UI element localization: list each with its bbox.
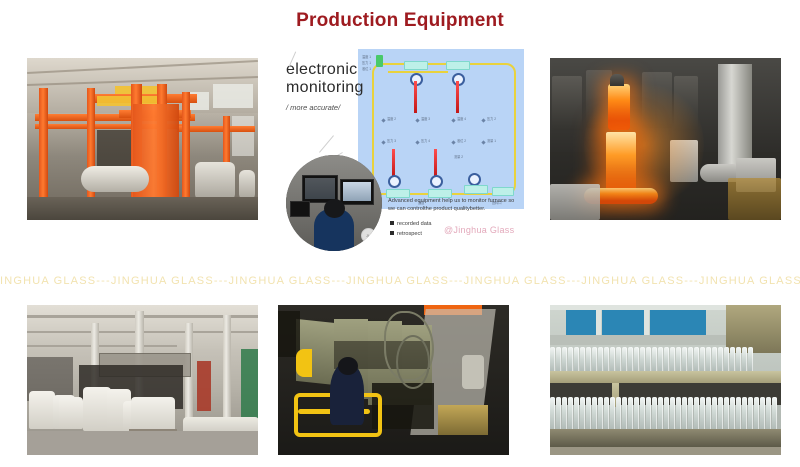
bottle-row-upper bbox=[550, 347, 758, 373]
gallery-image-raw-material-warehouse[interactable] bbox=[27, 305, 258, 455]
steel-column bbox=[182, 92, 190, 204]
bottle bbox=[742, 397, 747, 431]
factory-window bbox=[602, 309, 644, 337]
bottle bbox=[694, 347, 699, 373]
scada-tag bbox=[446, 61, 470, 70]
hall-window bbox=[232, 116, 254, 156]
roof-beam bbox=[27, 345, 177, 347]
monitoring-heading-line2: monitoring bbox=[286, 79, 364, 97]
factory-window bbox=[650, 309, 706, 337]
bottle bbox=[682, 347, 687, 373]
bottle bbox=[562, 347, 567, 373]
bottle bbox=[712, 347, 717, 373]
material-bag-stack bbox=[131, 397, 175, 431]
bottle bbox=[586, 347, 591, 373]
feed-pipe bbox=[81, 166, 149, 192]
bottle bbox=[568, 347, 573, 373]
bottle bbox=[580, 397, 585, 431]
mold-block bbox=[552, 76, 582, 130]
bottle bbox=[610, 397, 615, 431]
bottle bbox=[724, 397, 729, 431]
bottle bbox=[754, 397, 759, 431]
red-equipment bbox=[197, 361, 211, 411]
scada-label: 流量 2 bbox=[454, 155, 463, 159]
bottle bbox=[658, 347, 663, 373]
legend-bullet-icon bbox=[390, 231, 394, 235]
machine-base bbox=[438, 405, 488, 435]
furnace-body bbox=[133, 104, 179, 212]
scada-label: 温度 4 bbox=[457, 117, 466, 121]
furnace-hall-photo bbox=[27, 58, 258, 220]
bottle bbox=[718, 347, 723, 373]
material-bag bbox=[59, 397, 83, 429]
bottle bbox=[748, 347, 753, 373]
bottle bbox=[688, 397, 693, 431]
monitoring-subheading: / more accurate/ bbox=[286, 103, 340, 112]
bottle bbox=[580, 347, 585, 373]
decorative-swoosh bbox=[319, 135, 334, 152]
process-tank bbox=[195, 162, 235, 200]
bottle bbox=[616, 347, 621, 373]
scada-label: 液位 1 bbox=[362, 67, 371, 71]
material-bag bbox=[29, 391, 55, 429]
thermocouple-bar bbox=[434, 149, 437, 177]
bottle bbox=[628, 397, 633, 431]
bottle bbox=[670, 397, 675, 431]
bottle bbox=[640, 397, 645, 431]
white-equipment bbox=[462, 355, 484, 389]
bottle bbox=[700, 347, 705, 373]
warehouse-floor bbox=[27, 431, 258, 455]
page-title: Production Equipment bbox=[0, 10, 800, 32]
bottle bbox=[652, 347, 657, 373]
bottle bbox=[592, 397, 597, 431]
green-net bbox=[241, 349, 258, 427]
thermocouple-bar bbox=[456, 81, 459, 113]
factory-window bbox=[566, 309, 596, 337]
legend-label: retrospect bbox=[397, 231, 422, 237]
wall-band bbox=[550, 335, 726, 345]
bottle bbox=[616, 397, 621, 431]
bottle bbox=[622, 397, 627, 431]
worker-head bbox=[338, 357, 358, 375]
bottle bbox=[742, 347, 747, 373]
glowing-bottle-body bbox=[606, 132, 636, 190]
bottle bbox=[718, 397, 723, 431]
machine-base bbox=[550, 184, 600, 220]
scada-label: 压力 2 bbox=[487, 117, 496, 121]
gallery-image-electronic-monitoring[interactable]: 温度 1 压力 1 液位 1 温度 2 温度 3 温度 4 压力 2 压力 3 bbox=[278, 45, 526, 257]
scada-label: 流量 1 bbox=[487, 139, 496, 143]
scada-tag bbox=[404, 61, 428, 70]
machine-base bbox=[728, 178, 781, 220]
bottle bbox=[574, 347, 579, 373]
yellow-guard bbox=[296, 349, 312, 377]
bottle bbox=[592, 347, 597, 373]
scada-screen: 温度 1 压力 1 液位 1 温度 2 温度 3 温度 4 压力 2 压力 3 bbox=[358, 49, 524, 209]
bottle bbox=[652, 397, 657, 431]
support-column bbox=[185, 323, 193, 431]
sensor-head bbox=[388, 175, 401, 188]
bottle bbox=[736, 347, 741, 373]
bottle bbox=[712, 397, 717, 431]
bottle bbox=[664, 347, 669, 373]
conveyor-rail-upper bbox=[550, 371, 781, 383]
conveyor-belt bbox=[550, 429, 781, 447]
bottle bbox=[556, 347, 561, 373]
bottle-conveyor-photo bbox=[550, 305, 781, 455]
thermocouple-bar bbox=[414, 81, 417, 113]
conveyor-edge bbox=[550, 447, 781, 455]
logo-badge: JH bbox=[361, 228, 376, 243]
status-indicator bbox=[376, 55, 383, 67]
plunger bbox=[610, 74, 624, 86]
air-hose bbox=[396, 335, 430, 389]
legend-bullet-icon bbox=[390, 221, 394, 225]
hot-glass-photo bbox=[550, 58, 781, 220]
gallery-image-furnace-hall[interactable] bbox=[27, 58, 258, 220]
bottle bbox=[604, 347, 609, 373]
monitor bbox=[290, 201, 310, 217]
window-frame bbox=[596, 305, 601, 339]
bottle bbox=[676, 397, 681, 431]
sensor-head bbox=[430, 175, 443, 188]
monitoring-paragraph: Advanced equipment help us to monitor fu… bbox=[388, 197, 518, 214]
bottle bbox=[688, 347, 693, 373]
scada-label: 压力 3 bbox=[387, 139, 396, 143]
bottle bbox=[634, 397, 639, 431]
window-frame bbox=[644, 305, 649, 339]
operator-head bbox=[324, 199, 345, 218]
scada-label: 温度 1 bbox=[362, 55, 371, 59]
glowing-bottle-top bbox=[608, 84, 630, 130]
production-equipment-page: Production Equipment bbox=[0, 0, 800, 467]
bottle bbox=[724, 347, 729, 373]
is-machine-photo bbox=[278, 305, 509, 455]
bottle bbox=[640, 347, 645, 373]
monitoring-heading-line1: electronic bbox=[286, 61, 357, 79]
gallery-image-is-machine-operator[interactable] bbox=[278, 305, 509, 455]
bottle bbox=[610, 347, 615, 373]
bottle bbox=[706, 397, 711, 431]
bottle bbox=[646, 397, 651, 431]
bottle bbox=[664, 397, 669, 431]
bottle bbox=[634, 347, 639, 373]
hall-window bbox=[213, 84, 253, 108]
control-room-photo: JH bbox=[286, 155, 382, 251]
bottle bbox=[694, 397, 699, 431]
bottle bbox=[682, 397, 687, 431]
watermark-band: JINGHUA GLASS---JINGHUA GLASS---JINGHUA … bbox=[0, 268, 800, 294]
scada-tag bbox=[492, 187, 514, 196]
bottle bbox=[550, 347, 555, 373]
bottle bbox=[628, 347, 633, 373]
warehouse-photo bbox=[27, 305, 258, 455]
monitor bbox=[340, 179, 374, 205]
legend-item-recorded-data: recorded data bbox=[390, 221, 432, 227]
scada-label: 温度 3 bbox=[421, 117, 430, 121]
bottle bbox=[658, 397, 663, 431]
bottle bbox=[676, 347, 681, 373]
gallery-image-hot-glass-forming[interactable] bbox=[550, 58, 781, 220]
bottle bbox=[568, 397, 573, 431]
bottle bbox=[556, 397, 561, 431]
shadow-area bbox=[278, 311, 300, 357]
bottle bbox=[766, 397, 771, 431]
bottle bbox=[706, 347, 711, 373]
bottle bbox=[574, 397, 579, 431]
bottle bbox=[760, 397, 765, 431]
bottle bbox=[730, 397, 735, 431]
scada-label: 液位 2 bbox=[457, 139, 466, 143]
scada-label: 压力 4 bbox=[421, 139, 430, 143]
steel-cylinder bbox=[718, 64, 752, 168]
bottle bbox=[586, 397, 591, 431]
support-column bbox=[223, 315, 231, 431]
jinghua-glass-watermark: @Jinghua Glass bbox=[444, 225, 514, 235]
bottle bbox=[748, 397, 753, 431]
gallery-image-bottle-conveyor[interactable] bbox=[550, 305, 781, 455]
hall-floor bbox=[27, 197, 258, 220]
scada-label: 压力 1 bbox=[362, 61, 371, 65]
bottle bbox=[562, 397, 567, 431]
bottle bbox=[550, 397, 555, 431]
bottle bbox=[622, 347, 627, 373]
legend-item-retrospect: retrospect bbox=[390, 231, 422, 237]
bottle bbox=[736, 397, 741, 431]
thermocouple-bar bbox=[392, 149, 395, 177]
process-tank bbox=[239, 170, 255, 200]
bottle bbox=[598, 347, 603, 373]
bottle bbox=[646, 347, 651, 373]
bottle bbox=[598, 397, 603, 431]
bottle-row-lower bbox=[550, 397, 781, 431]
scada-tag bbox=[464, 185, 488, 194]
bottle bbox=[772, 397, 777, 431]
bottle bbox=[700, 397, 705, 431]
bottle bbox=[670, 347, 675, 373]
steel-column bbox=[39, 88, 48, 206]
bottle bbox=[604, 397, 609, 431]
watermark-text: JINGHUA GLASS---JINGHUA GLASS---JINGHUA … bbox=[0, 275, 800, 287]
legend-label: recorded data bbox=[397, 221, 432, 227]
bottle bbox=[730, 347, 735, 373]
conveyor-machine bbox=[726, 305, 781, 353]
scada-label: 温度 2 bbox=[387, 117, 396, 121]
